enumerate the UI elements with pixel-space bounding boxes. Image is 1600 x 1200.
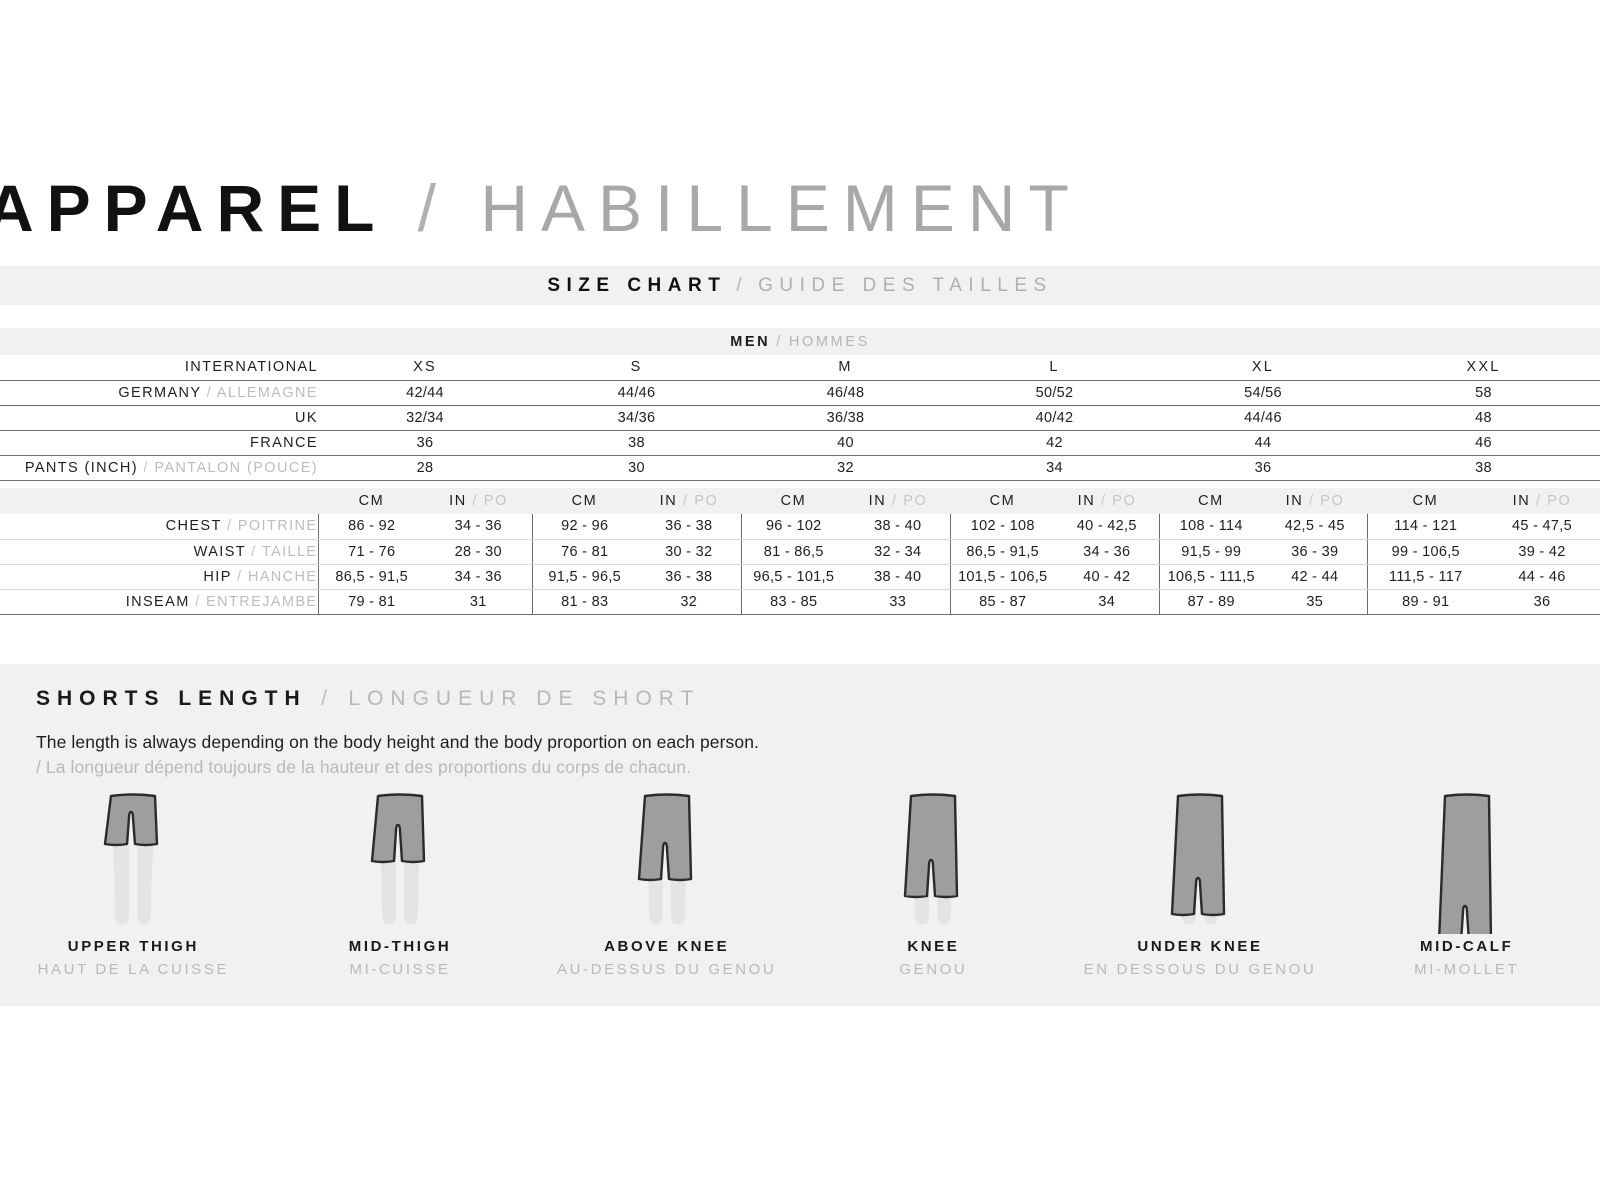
measurement-cell-cm: 91,5 - 99 bbox=[1159, 539, 1263, 564]
table-cell: 28 bbox=[318, 455, 532, 480]
row-label-en: FRANCE bbox=[250, 435, 318, 451]
measurement-cell-in: 34 - 36 bbox=[425, 514, 532, 539]
table-cell: 42 bbox=[950, 430, 1159, 455]
unit-header-cm: CM bbox=[741, 488, 846, 514]
table-row: HIP / HANCHE86,5 - 91,534 - 3691,5 - 96,… bbox=[0, 564, 1600, 589]
unit-separator: / bbox=[1101, 493, 1107, 509]
measurement-cell-cm: 81 - 83 bbox=[532, 589, 637, 614]
row-label-fr: TAILLE bbox=[262, 544, 318, 560]
measurement-cell-cm: 79 - 81 bbox=[318, 589, 425, 614]
unit-header-cm: CM bbox=[1159, 488, 1263, 514]
size-header-row: INTERNATIONALXSSMLXLXXL bbox=[0, 355, 1600, 380]
row-label-en: CHEST bbox=[166, 518, 222, 534]
table-row: GERMANY / ALLEMAGNE42/4444/4646/4850/525… bbox=[0, 380, 1600, 405]
table-cell: 30 bbox=[532, 455, 741, 480]
measurement-cell-cm: 86,5 - 91,5 bbox=[318, 564, 425, 589]
unit-in-label: IN bbox=[449, 493, 467, 509]
measurement-cell-cm: 108 - 114 bbox=[1159, 514, 1263, 539]
row-label: HIP / HANCHE bbox=[0, 564, 318, 589]
row-label-en: UK bbox=[295, 410, 318, 426]
row-label-separator: / bbox=[143, 460, 148, 476]
row-label: PANTS (INCH) / PANTALON (POUCE) bbox=[0, 455, 318, 480]
unit-header-in: IN / PO bbox=[637, 488, 741, 514]
unit-header-in: IN / PO bbox=[1263, 488, 1367, 514]
table-cell: 34 bbox=[950, 455, 1159, 480]
measurement-cell-in: 34 - 36 bbox=[425, 564, 532, 589]
unit-in-label: IN bbox=[1286, 493, 1304, 509]
size-chart-banner-separator: / bbox=[736, 275, 748, 297]
row-label: UK bbox=[0, 405, 318, 430]
shorts-length-label-fr: AU-DESSUS DU GENOU bbox=[557, 961, 776, 978]
row-label-separator: / bbox=[237, 569, 242, 585]
measurement-cell-cm: 99 - 106,5 bbox=[1367, 539, 1484, 564]
gender-band: MEN / HOMMES bbox=[0, 328, 1600, 355]
table-cell: 46 bbox=[1367, 430, 1600, 455]
table-cell: 38 bbox=[1367, 455, 1600, 480]
table-row: WAIST / TAILLE71 - 7628 - 3076 - 8130 - … bbox=[0, 539, 1600, 564]
unit-po-label: PO bbox=[1112, 493, 1136, 509]
table-cell: 40/42 bbox=[950, 405, 1159, 430]
unit-po-label: PO bbox=[1547, 493, 1571, 509]
table-row: UK32/3434/3636/3840/4244/4648 bbox=[0, 405, 1600, 430]
measurement-cell-cm: 96,5 - 101,5 bbox=[741, 564, 846, 589]
measurement-cell-in: 36 - 39 bbox=[1263, 539, 1367, 564]
table-cell: 40 bbox=[741, 430, 950, 455]
row-label: GERMANY / ALLEMAGNE bbox=[0, 380, 318, 405]
measurement-cell-in: 42 - 44 bbox=[1263, 564, 1367, 589]
shorts-length-label-fr: HAUT DE LA CUISSE bbox=[38, 961, 229, 978]
shorts-description-fr: / La longueur dépend toujours de la haut… bbox=[36, 757, 691, 778]
measurement-cell-in: 32 - 34 bbox=[846, 539, 950, 564]
measurement-cell-in: 42,5 - 45 bbox=[1263, 514, 1367, 539]
unit-in-label: IN bbox=[869, 493, 887, 509]
shorts-length-item: MID-CALFMI-MOLLET bbox=[1333, 786, 1600, 1001]
unit-separator: / bbox=[683, 493, 689, 509]
table-cell: 54/56 bbox=[1159, 380, 1367, 405]
row-label-en: INSEAM bbox=[126, 594, 190, 610]
measurement-cell-in: 38 - 40 bbox=[846, 564, 950, 589]
unit-cm-label: CM bbox=[1413, 493, 1439, 509]
shorts-length-panel: SHORTS LENGTH / LONGUEUR DE SHORT The le… bbox=[0, 664, 1600, 1006]
measurement-cell-in: 39 - 42 bbox=[1484, 539, 1600, 564]
size-chart-banner: SIZE CHART / GUIDE DES TAILLES bbox=[0, 266, 1600, 305]
size-column-header: XS bbox=[318, 355, 532, 380]
shorts-length-title-main: SHORTS LENGTH bbox=[36, 687, 307, 710]
shorts-length-label-fr: GENOU bbox=[899, 961, 967, 978]
table-row: INSEAM / ENTREJAMBE79 - 813181 - 833283 … bbox=[0, 589, 1600, 614]
table-cell: 42/44 bbox=[318, 380, 532, 405]
row-label-separator: / bbox=[227, 518, 232, 534]
table-cell: 32/34 bbox=[318, 405, 532, 430]
size-column-header: XL bbox=[1159, 355, 1367, 380]
table-row: CHEST / POITRINE86 - 9234 - 3692 - 9636 … bbox=[0, 514, 1600, 539]
size-column-header: XXL bbox=[1367, 355, 1600, 380]
row-label-en: WAIST bbox=[194, 544, 246, 560]
unit-po-label: PO bbox=[1320, 493, 1344, 509]
size-chart-banner-translation: GUIDE DES TAILLES bbox=[758, 275, 1053, 297]
measurement-cell-cm: 101,5 - 106,5 bbox=[950, 564, 1055, 589]
row-label-separator: / bbox=[195, 594, 200, 610]
shorts-length-title-separator: / bbox=[321, 687, 334, 710]
measurement-cell-cm: 83 - 85 bbox=[741, 589, 846, 614]
shorts-length-label-fr: MI-CUISSE bbox=[350, 961, 451, 978]
unit-in-label: IN bbox=[1513, 493, 1531, 509]
unit-header-cm: CM bbox=[950, 488, 1055, 514]
gender-band-separator: / bbox=[776, 334, 783, 350]
title-separator: / bbox=[418, 171, 449, 245]
shorts-length-item: MID-THIGHMI-CUISSE bbox=[267, 786, 534, 1001]
title-translation: HABILLEMENT bbox=[480, 171, 1081, 245]
unit-header-in: IN / PO bbox=[1484, 488, 1600, 514]
shorts-under-knee-icon bbox=[1140, 786, 1260, 934]
table-cell: 34/36 bbox=[532, 405, 741, 430]
measurement-cell-in: 40 - 42 bbox=[1055, 564, 1159, 589]
unit-header-in: IN / PO bbox=[846, 488, 950, 514]
unit-po-label: PO bbox=[694, 493, 718, 509]
unit-header-row: CMIN / POCMIN / POCMIN / POCMIN / POCMIN… bbox=[0, 488, 1600, 514]
shorts-length-label: MID-CALF bbox=[1420, 938, 1513, 955]
shorts-knee-icon bbox=[873, 786, 993, 934]
shorts-length-title: SHORTS LENGTH / LONGUEUR DE SHORT bbox=[36, 687, 700, 711]
row-label-en: INTERNATIONAL bbox=[185, 359, 318, 375]
international-size-table: INTERNATIONALXSSMLXLXXLGERMANY / ALLEMAG… bbox=[0, 355, 1600, 481]
size-chart-page: APPAREL / HABILLEMENT SIZE CHART / GUIDE… bbox=[0, 0, 1600, 1200]
table-cell: 46/48 bbox=[741, 380, 950, 405]
measurement-cell-in: 28 - 30 bbox=[425, 539, 532, 564]
row-label-separator: / bbox=[251, 544, 256, 560]
unit-cm-label: CM bbox=[359, 493, 385, 509]
measurement-cell-in: 36 - 38 bbox=[637, 514, 741, 539]
measurement-cell-in: 36 - 38 bbox=[637, 564, 741, 589]
measurement-cell-cm: 89 - 91 bbox=[1367, 589, 1484, 614]
measurement-cell-in: 38 - 40 bbox=[846, 514, 950, 539]
shorts-length-item: UNDER KNEEEN DESSOUS DU GENOU bbox=[1067, 786, 1334, 1001]
shorts-length-label-fr: MI-MOLLET bbox=[1414, 961, 1519, 978]
table-cell: 44/46 bbox=[532, 380, 741, 405]
shorts-upper-thigh-icon bbox=[73, 786, 193, 934]
measurement-cell-in: 35 bbox=[1263, 589, 1367, 614]
measurement-cell-cm: 81 - 86,5 bbox=[741, 539, 846, 564]
shorts-mid-calf-icon bbox=[1407, 786, 1527, 934]
measurement-cell-cm: 102 - 108 bbox=[950, 514, 1055, 539]
table-cell: 58 bbox=[1367, 380, 1600, 405]
shorts-length-item: ABOVE KNEEAU-DESSUS DU GENOU bbox=[533, 786, 800, 1001]
shorts-length-title-translation: LONGUEUR DE SHORT bbox=[348, 687, 700, 710]
shorts-description-en: The length is always depending on the bo… bbox=[36, 732, 759, 753]
table-cell: 36 bbox=[1159, 455, 1367, 480]
shorts-length-label: ABOVE KNEE bbox=[604, 938, 729, 955]
measurement-cell-cm: 86,5 - 91,5 bbox=[950, 539, 1055, 564]
page-title: APPAREL / HABILLEMENT bbox=[0, 160, 1600, 255]
measurement-cell-in: 34 bbox=[1055, 589, 1159, 614]
size-column-header: M bbox=[741, 355, 950, 380]
measurement-cell-cm: 111,5 - 117 bbox=[1367, 564, 1484, 589]
shorts-length-label: UPPER THIGH bbox=[68, 938, 199, 955]
unit-header-cm: CM bbox=[318, 488, 425, 514]
row-label-fr: HANCHE bbox=[248, 569, 318, 585]
size-column-header: S bbox=[532, 355, 741, 380]
table-cell: 32 bbox=[741, 455, 950, 480]
measurement-cell-cm: 106,5 - 111,5 bbox=[1159, 564, 1263, 589]
shorts-length-label: KNEE bbox=[907, 938, 959, 955]
unit-cm-label: CM bbox=[572, 493, 598, 509]
unit-header-spacer bbox=[0, 488, 318, 514]
measurement-cell-cm: 91,5 - 96,5 bbox=[532, 564, 637, 589]
size-chart-banner-main: SIZE CHART bbox=[547, 275, 726, 297]
measurement-cell-cm: 114 - 121 bbox=[1367, 514, 1484, 539]
unit-separator: / bbox=[472, 493, 478, 509]
measurement-cell-in: 30 - 32 bbox=[637, 539, 741, 564]
table-cell: 44 bbox=[1159, 430, 1367, 455]
table-row: FRANCE363840424446 bbox=[0, 430, 1600, 455]
row-label-en: HIP bbox=[203, 569, 231, 585]
table-row: PANTS (INCH) / PANTALON (POUCE)283032343… bbox=[0, 455, 1600, 480]
row-label-en: PANTS (INCH) bbox=[25, 460, 138, 476]
measurement-cell-cm: 87 - 89 bbox=[1159, 589, 1263, 614]
title-main: APPAREL bbox=[0, 171, 386, 245]
row-label-fr: ALLEMAGNE bbox=[217, 385, 318, 401]
unit-separator: / bbox=[1309, 493, 1315, 509]
shorts-length-label: UNDER KNEE bbox=[1137, 938, 1262, 955]
table-cell: 50/52 bbox=[950, 380, 1159, 405]
row-label: CHEST / POITRINE bbox=[0, 514, 318, 539]
row-label: WAIST / TAILLE bbox=[0, 539, 318, 564]
row-label-en: GERMANY bbox=[118, 385, 201, 401]
shorts-above-knee-icon bbox=[607, 786, 727, 934]
measurement-cell-cm: 92 - 96 bbox=[532, 514, 637, 539]
shorts-length-figures: UPPER THIGHHAUT DE LA CUISSE MID-THIGHMI… bbox=[0, 786, 1600, 1001]
row-label-fr: PANTALON (POUCE) bbox=[154, 460, 318, 476]
unit-in-label: IN bbox=[660, 493, 678, 509]
measurement-cell-in: 34 - 36 bbox=[1055, 539, 1159, 564]
measurement-cell-in: 32 bbox=[637, 589, 741, 614]
row-label-separator: / bbox=[207, 385, 212, 401]
table-cell: 44/46 bbox=[1159, 405, 1367, 430]
unit-po-label: PO bbox=[484, 493, 508, 509]
shorts-length-label-fr: EN DESSOUS DU GENOU bbox=[1084, 961, 1317, 978]
size-column-header: L bbox=[950, 355, 1159, 380]
shorts-mid-thigh-icon bbox=[340, 786, 460, 934]
unit-cm-label: CM bbox=[781, 493, 807, 509]
unit-cm-label: CM bbox=[1198, 493, 1224, 509]
measurement-cell-in: 33 bbox=[846, 589, 950, 614]
gender-band-translation: HOMMES bbox=[789, 334, 870, 350]
measurement-cell-in: 40 - 42,5 bbox=[1055, 514, 1159, 539]
table-cell: 36 bbox=[318, 430, 532, 455]
unit-header-in: IN / PO bbox=[425, 488, 532, 514]
gender-band-main: MEN bbox=[730, 334, 770, 350]
row-label-fr: POITRINE bbox=[238, 518, 318, 534]
row-label-fr: ENTREJAMBE bbox=[206, 594, 318, 610]
table-cell: 38 bbox=[532, 430, 741, 455]
row-label: FRANCE bbox=[0, 430, 318, 455]
unit-header-cm: CM bbox=[1367, 488, 1484, 514]
shorts-length-item: UPPER THIGHHAUT DE LA CUISSE bbox=[0, 786, 267, 1001]
measurement-cell-in: 45 - 47,5 bbox=[1484, 514, 1600, 539]
measurement-cell-cm: 71 - 76 bbox=[318, 539, 425, 564]
measurement-cell-in: 44 - 46 bbox=[1484, 564, 1600, 589]
unit-cm-label: CM bbox=[990, 493, 1016, 509]
body-measurement-table: CMIN / POCMIN / POCMIN / POCMIN / POCMIN… bbox=[0, 488, 1600, 615]
unit-in-label: IN bbox=[1078, 493, 1096, 509]
unit-separator: / bbox=[892, 493, 898, 509]
table-cell: 48 bbox=[1367, 405, 1600, 430]
measurement-cell-in: 36 bbox=[1484, 589, 1600, 614]
unit-header-cm: CM bbox=[532, 488, 637, 514]
table-cell: 36/38 bbox=[741, 405, 950, 430]
measurement-cell-cm: 76 - 81 bbox=[532, 539, 637, 564]
measurement-cell-cm: 96 - 102 bbox=[741, 514, 846, 539]
measurement-cell-in: 31 bbox=[425, 589, 532, 614]
shorts-length-label: MID-THIGH bbox=[349, 938, 452, 955]
row-label: INTERNATIONAL bbox=[0, 355, 318, 380]
row-label: INSEAM / ENTREJAMBE bbox=[0, 589, 318, 614]
unit-po-label: PO bbox=[903, 493, 927, 509]
measurement-cell-cm: 86 - 92 bbox=[318, 514, 425, 539]
unit-separator: / bbox=[1536, 493, 1542, 509]
measurement-cell-cm: 85 - 87 bbox=[950, 589, 1055, 614]
unit-header-in: IN / PO bbox=[1055, 488, 1159, 514]
shorts-length-item: KNEEGENOU bbox=[800, 786, 1067, 1001]
